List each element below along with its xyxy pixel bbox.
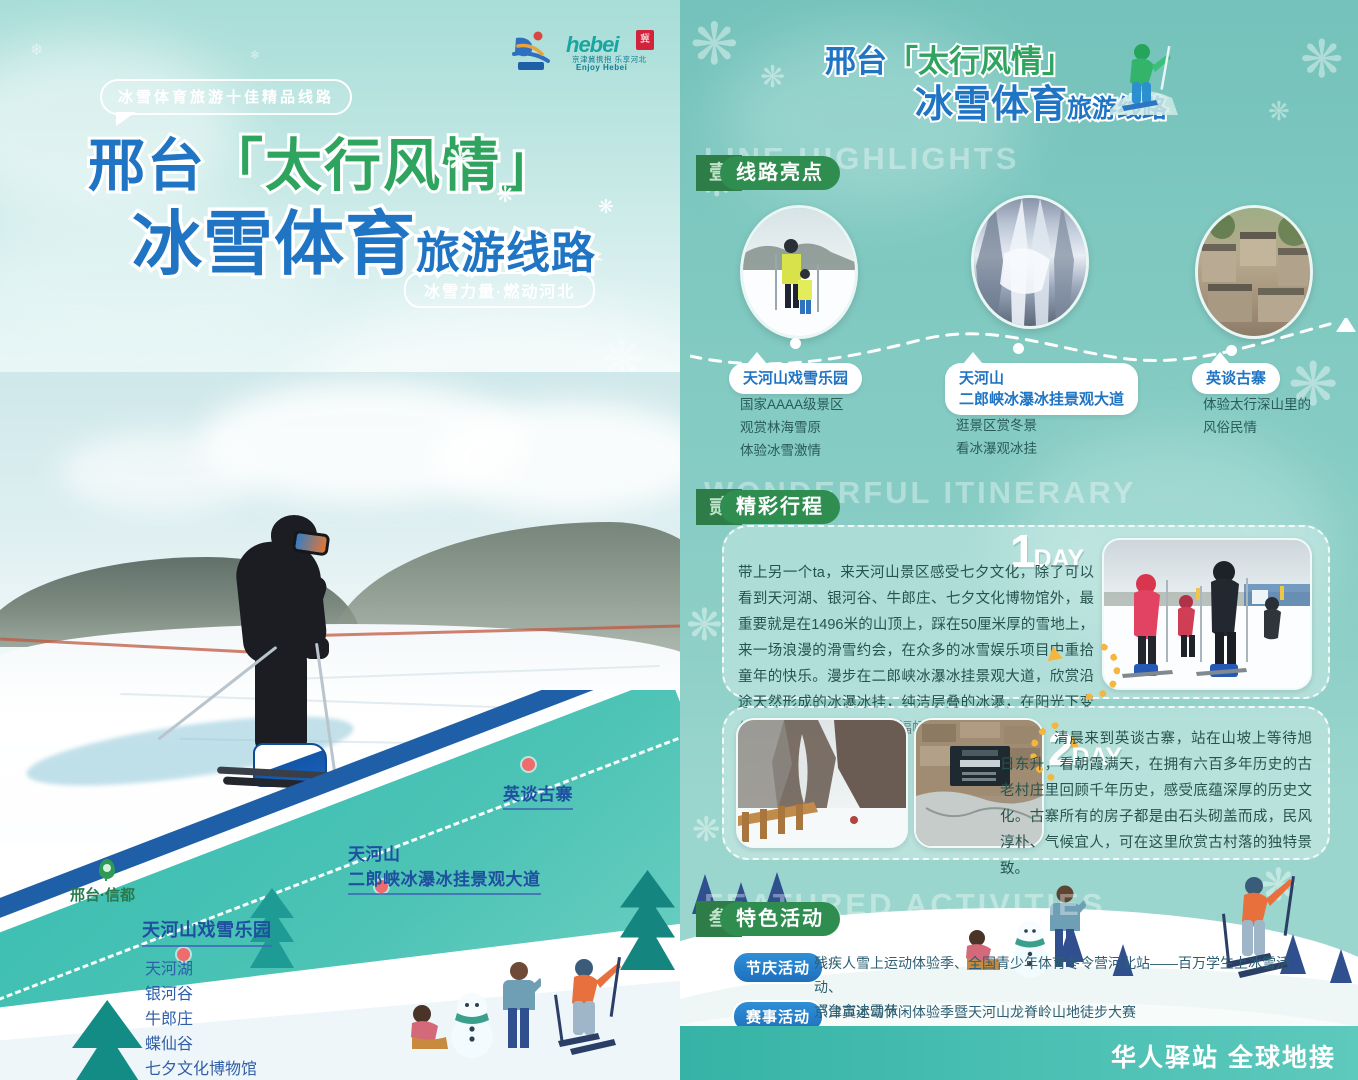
route-node-dot <box>522 758 535 771</box>
snow-canyon-boardwalk-photo[interactable] <box>736 718 908 848</box>
ancient-stone-village-photo <box>1198 208 1310 336</box>
person-building-snowman <box>495 960 541 1055</box>
highlight-title-text: 英谈古寨 <box>1206 370 1266 387</box>
section-label-pill: 精彩行程 <box>720 490 840 524</box>
highlight-desc-1: 国家AAAA级景区 观赏林海雪原 体验冰雪激情 <box>740 393 844 462</box>
left-title-route: 旅游线路 <box>416 229 596 278</box>
desc-line: 国家AAAA级景区 <box>740 393 844 416</box>
left-panel: hebei 京津冀携抱 乐享河北 Enjoy Hebei 冀 冰雪体育旅游十佳精… <box>0 0 680 1080</box>
map-label-text: 英谈古寨 <box>503 785 573 804</box>
sublist-item: 七夕文化博物馆 <box>145 1057 257 1080</box>
desc-line: 体验冰雪激情 <box>740 439 844 462</box>
hebei-tourism-logo: hebei 京津冀携抱 乐享河北 Enjoy Hebei 冀 <box>566 28 652 74</box>
hebei-logo-en: Enjoy Hebei <box>576 63 627 72</box>
highlight-title-text: 天河山戏雪乐园 <box>743 370 848 387</box>
desc-line: 看冰瀑观冰挂 <box>956 437 1037 460</box>
snowflake-icon: ❄ <box>250 48 260 62</box>
desc-line: 逛景区赏冬景 <box>956 414 1037 437</box>
snowflake-icon: ❋ <box>1300 30 1344 90</box>
activity-tag-festival: 节庆活动 <box>732 951 824 984</box>
snowflake-icon: ❋ <box>692 810 721 850</box>
desc-line: 风俗民情 <box>1203 416 1311 439</box>
map-label-text-line1: 天河山 <box>348 845 401 864</box>
highlight-desc-3: 体验太行深山里的 风俗民情 <box>1203 393 1311 439</box>
sublist-item: 蝶仙谷 <box>145 1032 257 1057</box>
map-sublist-tianheshan: 天河湖 银河谷 牛郎庄 蝶仙谷 七夕文化博物馆 <box>145 957 257 1080</box>
header-skier-icon <box>1108 40 1178 120</box>
map-label-text-line2: 二郎峡冰瀑冰挂景观大道 <box>348 870 541 889</box>
sublist-item: 天河湖 <box>145 957 257 982</box>
right-title-sport: 冰雪体育 <box>915 84 1067 126</box>
map-label-tianheshan-park: 天河山戏雪乐园 <box>142 916 272 947</box>
section-label-pill: 特色活动 <box>720 902 840 936</box>
activity-line: 残疾人雪上运动体验季、全国青少年体育冬令营河北站——百万学生上冰雪活动、 <box>814 951 1314 999</box>
hebei-logo-badge: 冀 <box>636 30 654 50</box>
logo-group: hebei 京津冀携抱 乐享河北 Enjoy Hebei 冀 <box>508 28 652 74</box>
right-title-city: 邢台 <box>825 44 887 79</box>
snowflake-icon: ❋ <box>1268 96 1290 127</box>
section-label-pill: 线路亮点 <box>720 156 840 190</box>
day-2-text: 清晨来到英谈古寨，站在山坡上等待旭日东升，看朝霞满天，在拥有六百多年历史的古老村… <box>1000 726 1312 882</box>
activity-line: 京津冀运动休闲体验季暨天河山龙脊岭山地徒步大赛 <box>814 1000 1314 1024</box>
ice-waterfall-photo <box>974 198 1086 326</box>
label-underline <box>142 945 272 947</box>
pine-tree <box>1330 949 1352 983</box>
highlight-title-text-line1: 天河山 <box>959 370 1004 387</box>
highlight-title-1: 天河山戏雪乐园 <box>729 363 862 394</box>
label-underline <box>503 808 573 810</box>
map-label-erlangxia: 天河山 二郎峡冰瀑冰挂景观大道 <box>348 840 541 895</box>
sublist-item: 银河谷 <box>145 982 257 1007</box>
highlight-title-text-line2: 二郎峡冰瀑冰挂景观大道 <box>959 391 1124 408</box>
desc-line: 观赏林海雪原 <box>740 416 844 439</box>
highlight-node-dot <box>790 338 801 349</box>
left-title-sport: 冰雪体育 <box>132 205 416 283</box>
sublist-item: 牛郎庄 <box>145 1007 257 1032</box>
label-underline <box>348 893 541 895</box>
origin-label: 邢台·信都 <box>70 884 135 905</box>
desc-line: 体验太行深山里的 <box>1203 393 1311 416</box>
family-skiing-photo <box>743 208 855 336</box>
eyebrow-badge: 冰雪体育旅游十佳精品线路 <box>100 79 352 115</box>
poster: hebei 京津冀携抱 乐享河北 Enjoy Hebei 冀 冰雪体育旅游十佳精… <box>0 0 1358 1080</box>
footer-brand-text: 华人驿站 全球地接 <box>1111 1038 1336 1074</box>
snowflake-icon: ❋ <box>446 140 475 180</box>
snowflake-icon: ❄ <box>30 40 43 60</box>
snowflake-icon: ❋ <box>686 600 723 651</box>
map-label-yingtan-village: 英谈古寨 <box>503 780 573 810</box>
ski-lesson-photo[interactable] <box>1102 538 1312 690</box>
winter-games-logo-icon <box>508 28 554 74</box>
snowflake-icon: ❋ <box>598 196 614 219</box>
snowflake-icon: ❋ <box>760 60 785 95</box>
origin-pin-icon <box>99 859 115 879</box>
skier-illustration <box>540 955 636 1060</box>
highlight-title-3: 英谈古寨 <box>1192 363 1280 394</box>
left-tagline: 冰雪力量·燃动河北 <box>404 272 595 308</box>
highlight-title-2: 天河山 二郎峡冰瀑冰挂景观大道 <box>945 363 1138 415</box>
highlight-photo-2[interactable] <box>971 195 1089 329</box>
highlight-node-dot <box>1013 343 1024 354</box>
map-label-text: 天河山戏雪乐园 <box>142 920 272 940</box>
child-kneeling <box>406 1003 456 1060</box>
photo-cloud <box>60 432 260 512</box>
highlight-desc-2: 逛景区赏冬景 看冰瀑观冰挂 <box>956 414 1037 460</box>
snowflake-icon: ❋ <box>690 10 739 78</box>
snowflake-icon: ❋ <box>496 182 514 208</box>
activity-text-competition: 京津冀运动休闲体验季暨天河山龙脊岭山地徒步大赛 <box>814 1000 1314 1024</box>
